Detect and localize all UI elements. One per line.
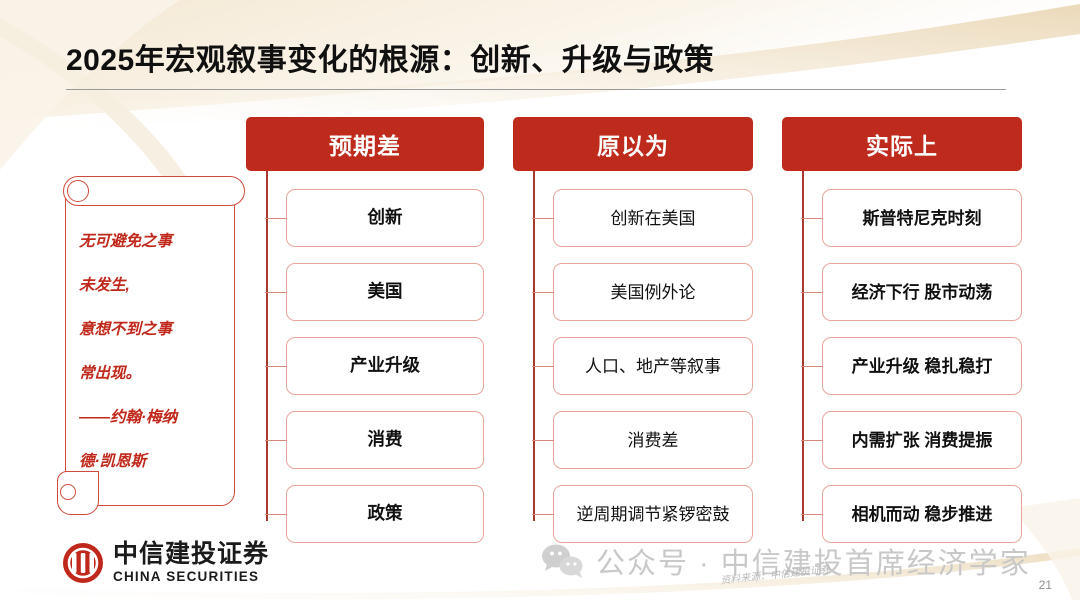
node-label: 经济下行 股市动荡 — [852, 284, 993, 301]
node-item[interactable]: 政策 — [286, 485, 484, 543]
quote-text: 无可避免之事 未发生, 意想不到之事 常出现。 ——约翰·梅纳 德·凯恩斯 — [79, 220, 239, 484]
wechat-icon — [540, 542, 584, 580]
node-label: 美国 — [368, 283, 403, 301]
page-title-container: 2025年宏观叙事变化的根源：创新、升级与政策 — [66, 44, 1016, 79]
scroll-curl-top — [63, 176, 245, 206]
node-item[interactable]: 相机而动 稳步推进 — [822, 485, 1022, 543]
quote-line: 未发生, — [79, 264, 239, 308]
node-item[interactable]: 产业升级 — [286, 337, 484, 395]
company-logo: 中信建投证券 CHINA SECURITIES — [62, 542, 269, 584]
quote-scroll: 无可避免之事 未发生, 意想不到之事 常出现。 ——约翰·梅纳 德·凯恩斯 — [57, 176, 245, 516]
node-item[interactable]: 人口、地产等叙事 — [553, 337, 753, 395]
node-label: 产业升级 — [350, 357, 420, 375]
node-item[interactable]: 创新在美国 — [553, 189, 753, 247]
column-header: 实际上 — [782, 117, 1022, 171]
node-label: 内需扩张 消费提振 — [852, 432, 993, 449]
quote-line: 无可避免之事 — [79, 220, 239, 264]
logo-name-cn: 中信建投证券 — [113, 542, 269, 567]
citic-logo-icon — [62, 542, 104, 584]
slide-canvas: 2025年宏观叙事变化的根源：创新、升级与政策 无可避免之事 未发生, 意想不到… — [0, 0, 1080, 608]
node-item[interactable]: 产业升级 稳扎稳打 — [822, 337, 1022, 395]
node-label: 消费 — [368, 431, 403, 449]
column-header: 原以为 — [513, 117, 753, 171]
node-item[interactable]: 内需扩张 消费提振 — [822, 411, 1022, 469]
node-label: 消费差 — [628, 432, 679, 449]
column-expectation-gap: 预期差 创新 美国 产业升级 消费 政策 — [246, 117, 484, 543]
node-label: 美国例外论 — [611, 284, 696, 301]
node-label: 相机而动 稳步推进 — [852, 506, 993, 523]
quote-line: 常出现。 — [79, 352, 239, 396]
scroll-knob-bottom-icon — [60, 484, 76, 500]
column-header: 预期差 — [246, 117, 484, 171]
node-item[interactable]: 消费差 — [553, 411, 753, 469]
page-number: 21 — [1039, 578, 1052, 592]
node-label: 创新在美国 — [611, 210, 696, 227]
logo-text: 中信建投证券 CHINA SECURITIES — [113, 542, 269, 584]
node-label: 政策 — [368, 505, 403, 523]
column-items: 创新在美国 美国例外论 人口、地产等叙事 消费差 逆周期调节紧锣密鼓 — [513, 189, 753, 543]
node-item[interactable]: 美国例外论 — [553, 263, 753, 321]
title-divider — [66, 89, 1006, 90]
column-previously-believed: 原以为 创新在美国 美国例外论 人口、地产等叙事 消费差 逆周期调节紧锣密鼓 — [513, 117, 753, 543]
node-item[interactable]: 经济下行 股市动荡 — [822, 263, 1022, 321]
column-in-reality: 实际上 斯普特尼克时刻 经济下行 股市动荡 产业升级 稳扎稳打 内需扩张 消费提… — [782, 117, 1022, 543]
node-label: 斯普特尼克时刻 — [863, 210, 982, 227]
column-items: 斯普特尼克时刻 经济下行 股市动荡 产业升级 稳扎稳打 内需扩张 消费提振 相机… — [782, 189, 1022, 543]
node-item[interactable]: 斯普特尼克时刻 — [822, 189, 1022, 247]
node-label: 人口、地产等叙事 — [585, 358, 721, 375]
page-title: 2025年宏观叙事变化的根源：创新、升级与政策 — [66, 44, 1016, 79]
scroll-knob-top-icon — [67, 180, 89, 202]
node-label: 创新 — [368, 209, 403, 227]
quote-attribution-line: 德·凯恩斯 — [79, 440, 239, 484]
column-items: 创新 美国 产业升级 消费 政策 — [246, 189, 484, 543]
node-item[interactable]: 逆周期调节紧锣密鼓 — [553, 485, 753, 543]
node-item[interactable]: 美国 — [286, 263, 484, 321]
node-item[interactable]: 消费 — [286, 411, 484, 469]
logo-name-en: CHINA SECURITIES — [113, 570, 269, 584]
node-label: 产业升级 稳扎稳打 — [852, 358, 993, 375]
node-label: 逆周期调节紧锣密鼓 — [577, 506, 730, 523]
node-item[interactable]: 创新 — [286, 189, 484, 247]
quote-attribution-line: ——约翰·梅纳 — [79, 396, 239, 440]
quote-line: 意想不到之事 — [79, 308, 239, 352]
